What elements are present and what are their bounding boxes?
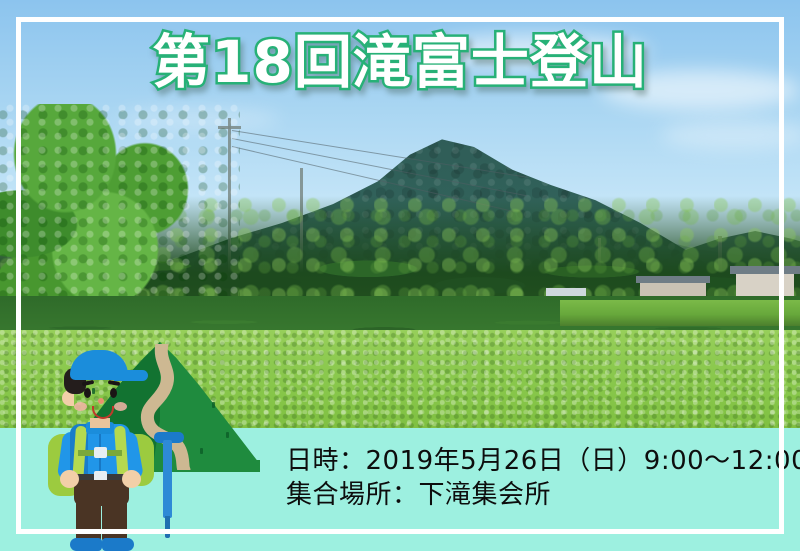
left-leg xyxy=(76,482,101,544)
left-hand xyxy=(60,470,79,488)
event-datetime-line: 日時：2019年5月26日（日）9:00〜12:00 xyxy=(286,444,800,478)
right-eye xyxy=(110,388,117,398)
tree-mark-icon xyxy=(212,402,215,408)
far-rice-terrace xyxy=(560,300,800,326)
right-hand xyxy=(122,470,141,488)
pole-shaft xyxy=(163,440,172,518)
event-details: 日時：2019年5月26日（日）9:00〜12:00 集合場所：下滝集会所 xyxy=(286,444,800,512)
cloud-icon xyxy=(600,70,800,110)
event-poster: 第18回滝富士登山 日時：2019年5月26日（日）9:00〜12:00 集合場… xyxy=(0,0,800,551)
cloud-icon xyxy=(420,34,650,68)
right-leg xyxy=(102,482,127,544)
chest-buckle xyxy=(94,447,107,458)
house-roof xyxy=(730,266,800,274)
left-cheek xyxy=(74,402,87,411)
pole-tip xyxy=(165,516,170,538)
right-cheek xyxy=(114,402,127,411)
event-location-line: 集合場所：下滝集会所 xyxy=(286,478,800,512)
tree-mark-icon xyxy=(226,432,229,438)
left-eye xyxy=(84,388,91,398)
right-shoe xyxy=(102,538,134,551)
cap-brim xyxy=(114,370,148,381)
house-roof xyxy=(636,276,710,283)
left-shoe xyxy=(70,538,102,551)
trekking-pole xyxy=(154,432,166,536)
tree-mark-icon xyxy=(200,448,203,454)
hiker-illustration xyxy=(36,336,276,546)
nose xyxy=(98,398,104,404)
